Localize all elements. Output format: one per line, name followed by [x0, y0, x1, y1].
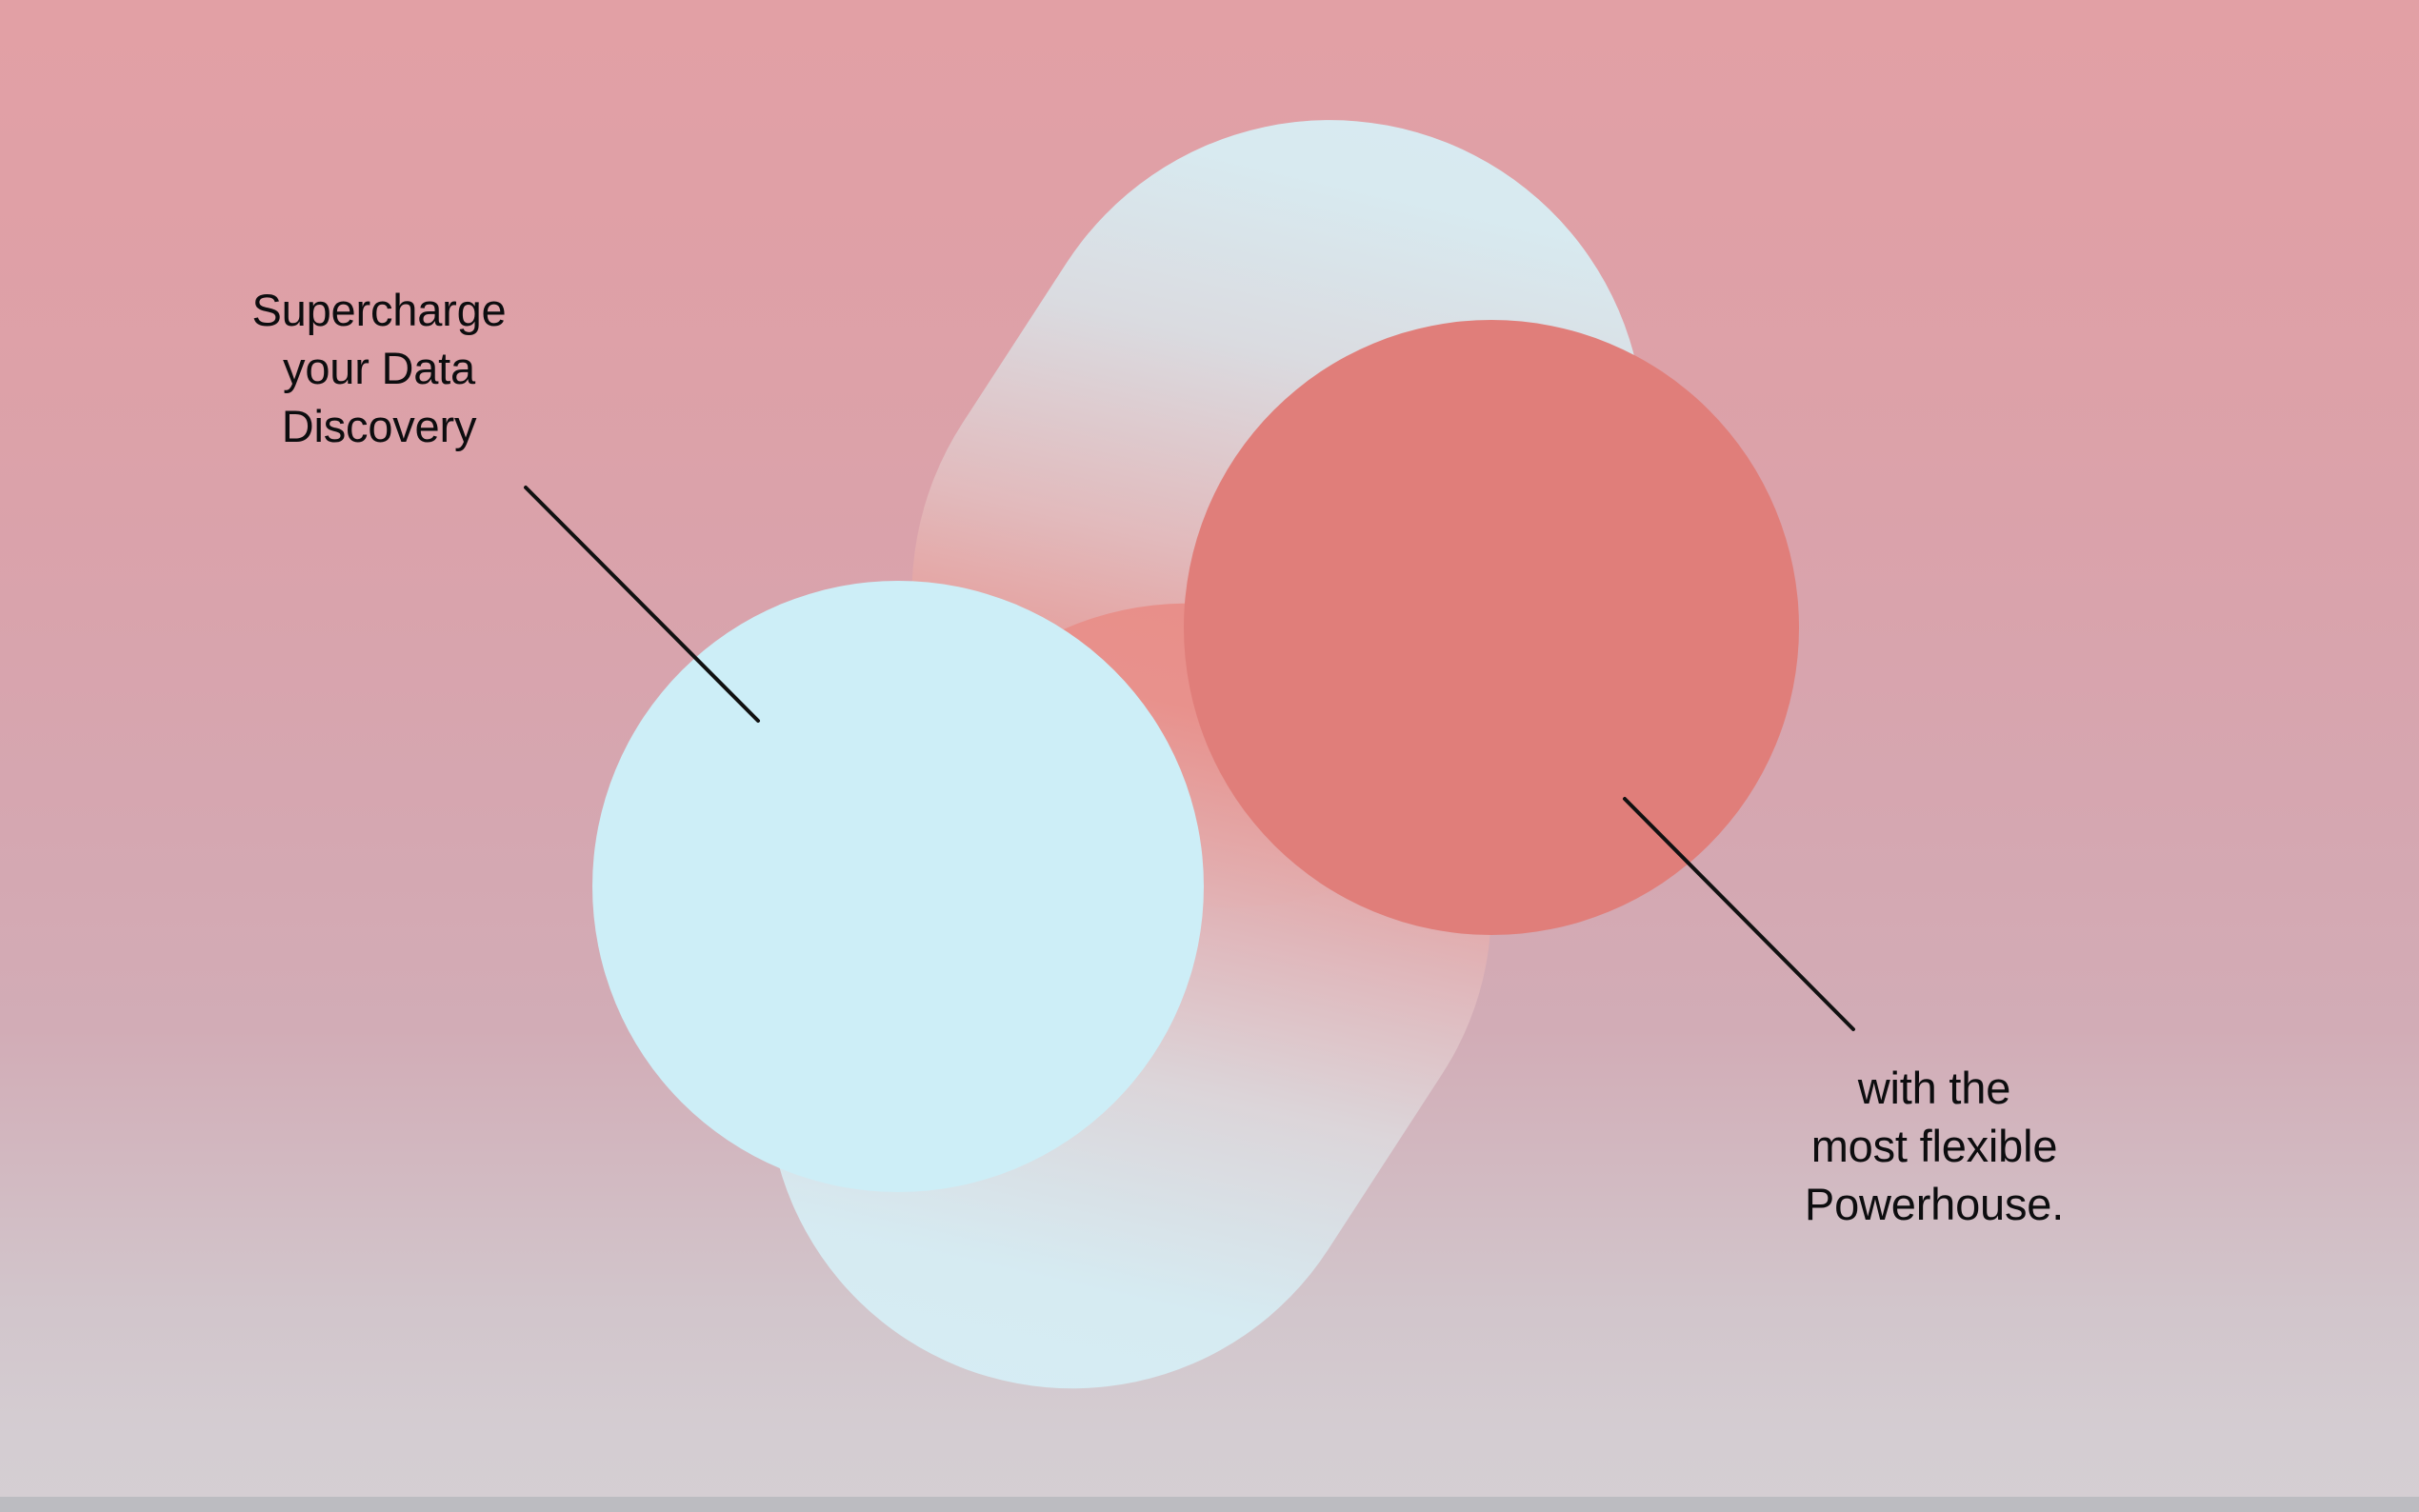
- hero-artwork-canvas: Supercharge your Data Discovery with the…: [0, 0, 2419, 1512]
- annotation-left-line-3: Discovery: [179, 397, 579, 455]
- bottom-bar: [0, 1497, 2419, 1512]
- annotation-left: Supercharge your Data Discovery: [179, 281, 579, 455]
- annotation-right: with the most flexible Powerhouse.: [1729, 1059, 2139, 1233]
- abstract-shape-group: [0, 0, 2419, 1512]
- solid-circle-blue: [592, 581, 1204, 1192]
- annotation-right-line-3: Powerhouse.: [1729, 1175, 2139, 1233]
- annotation-right-line-1: with the: [1729, 1059, 2139, 1117]
- annotation-right-line-2: most flexible: [1729, 1117, 2139, 1175]
- solid-circle-coral: [1184, 320, 1799, 935]
- annotation-left-line-1: Supercharge: [179, 281, 579, 339]
- annotation-left-line-2: your Data: [179, 339, 579, 397]
